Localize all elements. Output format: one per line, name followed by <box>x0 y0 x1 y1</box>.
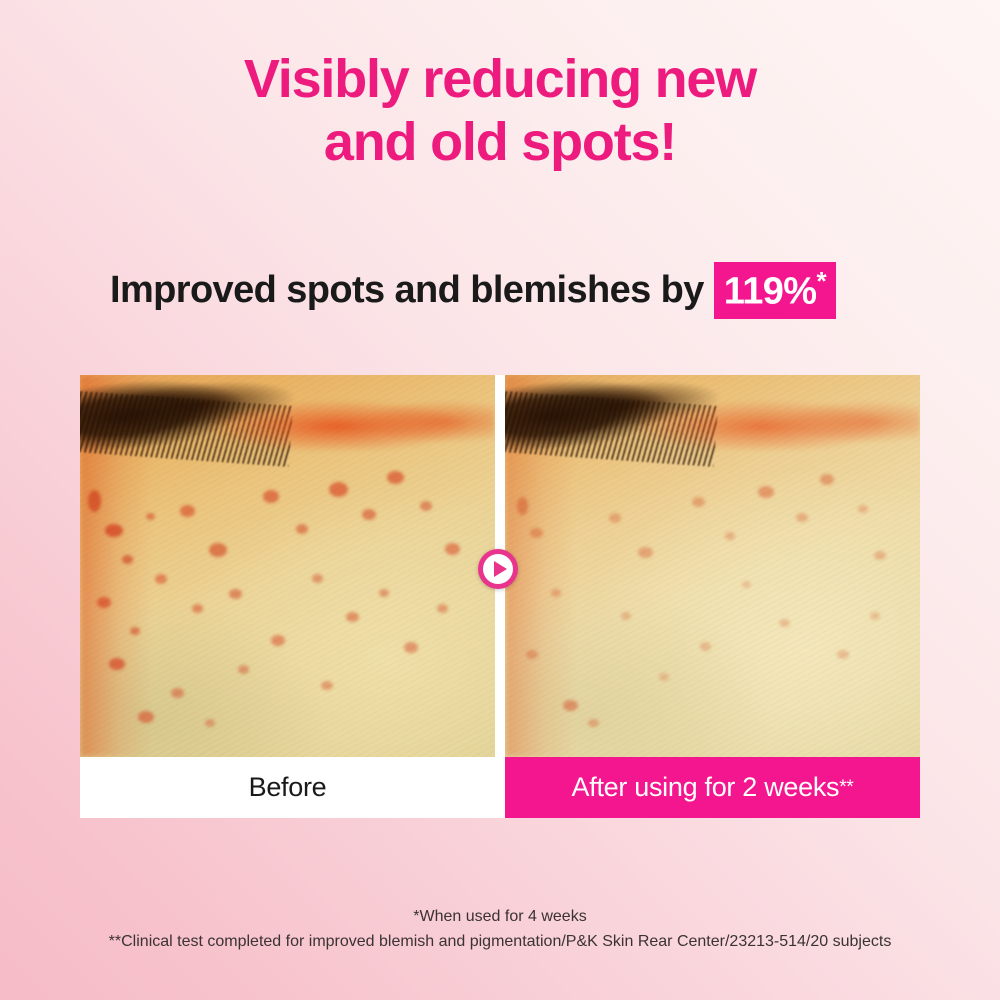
before-caption-bar: Before <box>80 757 495 818</box>
after-caption-label: After using for 2 weeks <box>572 772 840 803</box>
skin-texture-overlay <box>505 375 920 757</box>
after-caption-footnote-marker: ** <box>839 777 853 799</box>
headline-line-2: and old spots! <box>0 111 1000 174</box>
skin-texture-overlay <box>80 375 495 757</box>
play-triangle-icon <box>494 561 507 577</box>
after-photo <box>505 375 920 757</box>
headline-line-1: Visibly reducing new <box>0 48 1000 111</box>
improvement-badge: 119%* <box>714 262 836 319</box>
before-pane: Before <box>80 375 495 818</box>
before-after-slider-handle[interactable] <box>478 549 518 589</box>
before-after-comparison: Before <box>80 375 920 818</box>
page-headline: Visibly reducing new and old spots! <box>0 48 1000 173</box>
improvement-value: 119% <box>724 271 817 313</box>
subtitle-text: Improved spots and blemishes by <box>110 269 704 312</box>
after-caption-bar: After using for 2 weeks** <box>505 757 920 818</box>
after-pane: After using for 2 weeks** <box>505 375 920 818</box>
slider-handle-inner <box>483 554 513 584</box>
footnote-line-1: *When used for 4 weeks <box>0 905 1000 930</box>
before-photo <box>80 375 495 757</box>
footnotes: *When used for 4 weeks **Clinical test c… <box>0 905 1000 955</box>
improvement-footnote-marker: * <box>816 266 826 296</box>
subtitle-row: Improved spots and blemishes by 119%* <box>110 262 920 319</box>
before-caption-label: Before <box>249 772 327 803</box>
footnote-line-2: **Clinical test completed for improved b… <box>0 930 1000 955</box>
comparison-divider <box>495 375 505 818</box>
